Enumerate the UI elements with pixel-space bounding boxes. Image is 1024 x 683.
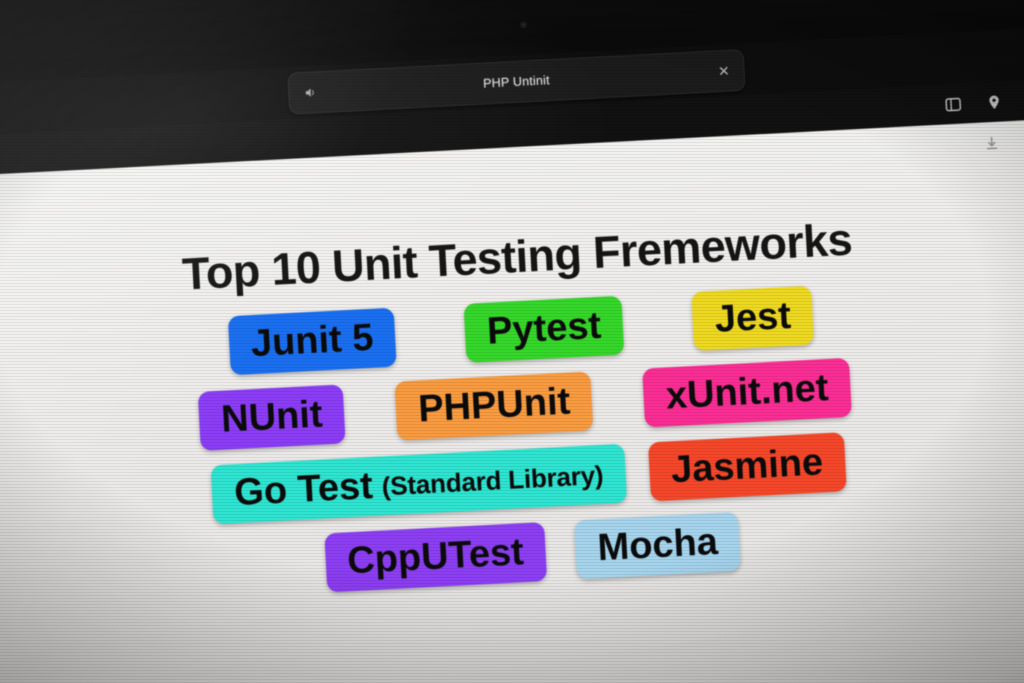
framework-badge[interactable]: CppUTest [324,522,547,592]
framework-badge[interactable]: Junit 5 [228,308,397,376]
browser-window: PHP Untinit ✕ [0,26,1024,683]
framework-badge[interactable]: Go Test(Standard Library) [211,444,627,525]
framework-badge[interactable]: Jasmine [648,432,847,501]
framework-badge[interactable]: xUnit.net [643,358,852,428]
framework-badge-label: Jasmine [670,442,824,491]
framework-badge-label: Mocha [597,522,719,569]
laptop-screen: PHP Untinit ✕ [0,0,1024,683]
badge-row: CppUTestMocha [324,512,742,593]
framework-badge-label: Go Test [233,466,374,514]
framework-badge[interactable]: Pytest [464,296,625,363]
framework-badge-sublabel: (Standard Library) [381,460,604,500]
framework-badge-label: PHPUnit [417,382,571,431]
framework-badge[interactable]: Jest [691,286,814,351]
webcam-icon [520,21,527,28]
framework-badge-label: Pytest [486,306,602,353]
badge-row: Junit 5PytestJest [228,286,815,376]
download-icon[interactable] [983,135,1000,152]
badge-row: Go Test(Standard Library)Jasmine [211,432,847,524]
photo-of-laptop-screen: PHP Untinit ✕ [0,0,1024,683]
framework-badge-label: Junit 5 [250,318,374,365]
framework-badge-rows: Junit 5PytestJestNUnitPHPUnitxUnit.netGo… [0,272,1024,611]
framework-badge[interactable]: PHPUnit [395,371,594,440]
browser-tab-title: PHP Untinit [483,73,550,90]
framework-badge-label: xUnit.net [665,368,829,417]
framework-badge-label: CppUTest [346,532,525,582]
page-viewport: Top 10 Unit Testing Fremeworks Junit 5Py… [0,118,1024,683]
framework-badge[interactable]: NUnit [198,384,346,451]
framework-badge-label: Jest [714,296,792,341]
pin-location-icon[interactable] [985,93,1003,111]
framework-badge[interactable]: Mocha [574,512,741,580]
framework-badge-label: NUnit [220,395,323,441]
slide-content: Top 10 Unit Testing Fremeworks Junit 5Py… [0,160,1024,683]
close-icon[interactable]: ✕ [718,64,730,79]
sidebar-panel-icon[interactable] [944,95,962,113]
speaker-icon[interactable] [303,85,318,100]
